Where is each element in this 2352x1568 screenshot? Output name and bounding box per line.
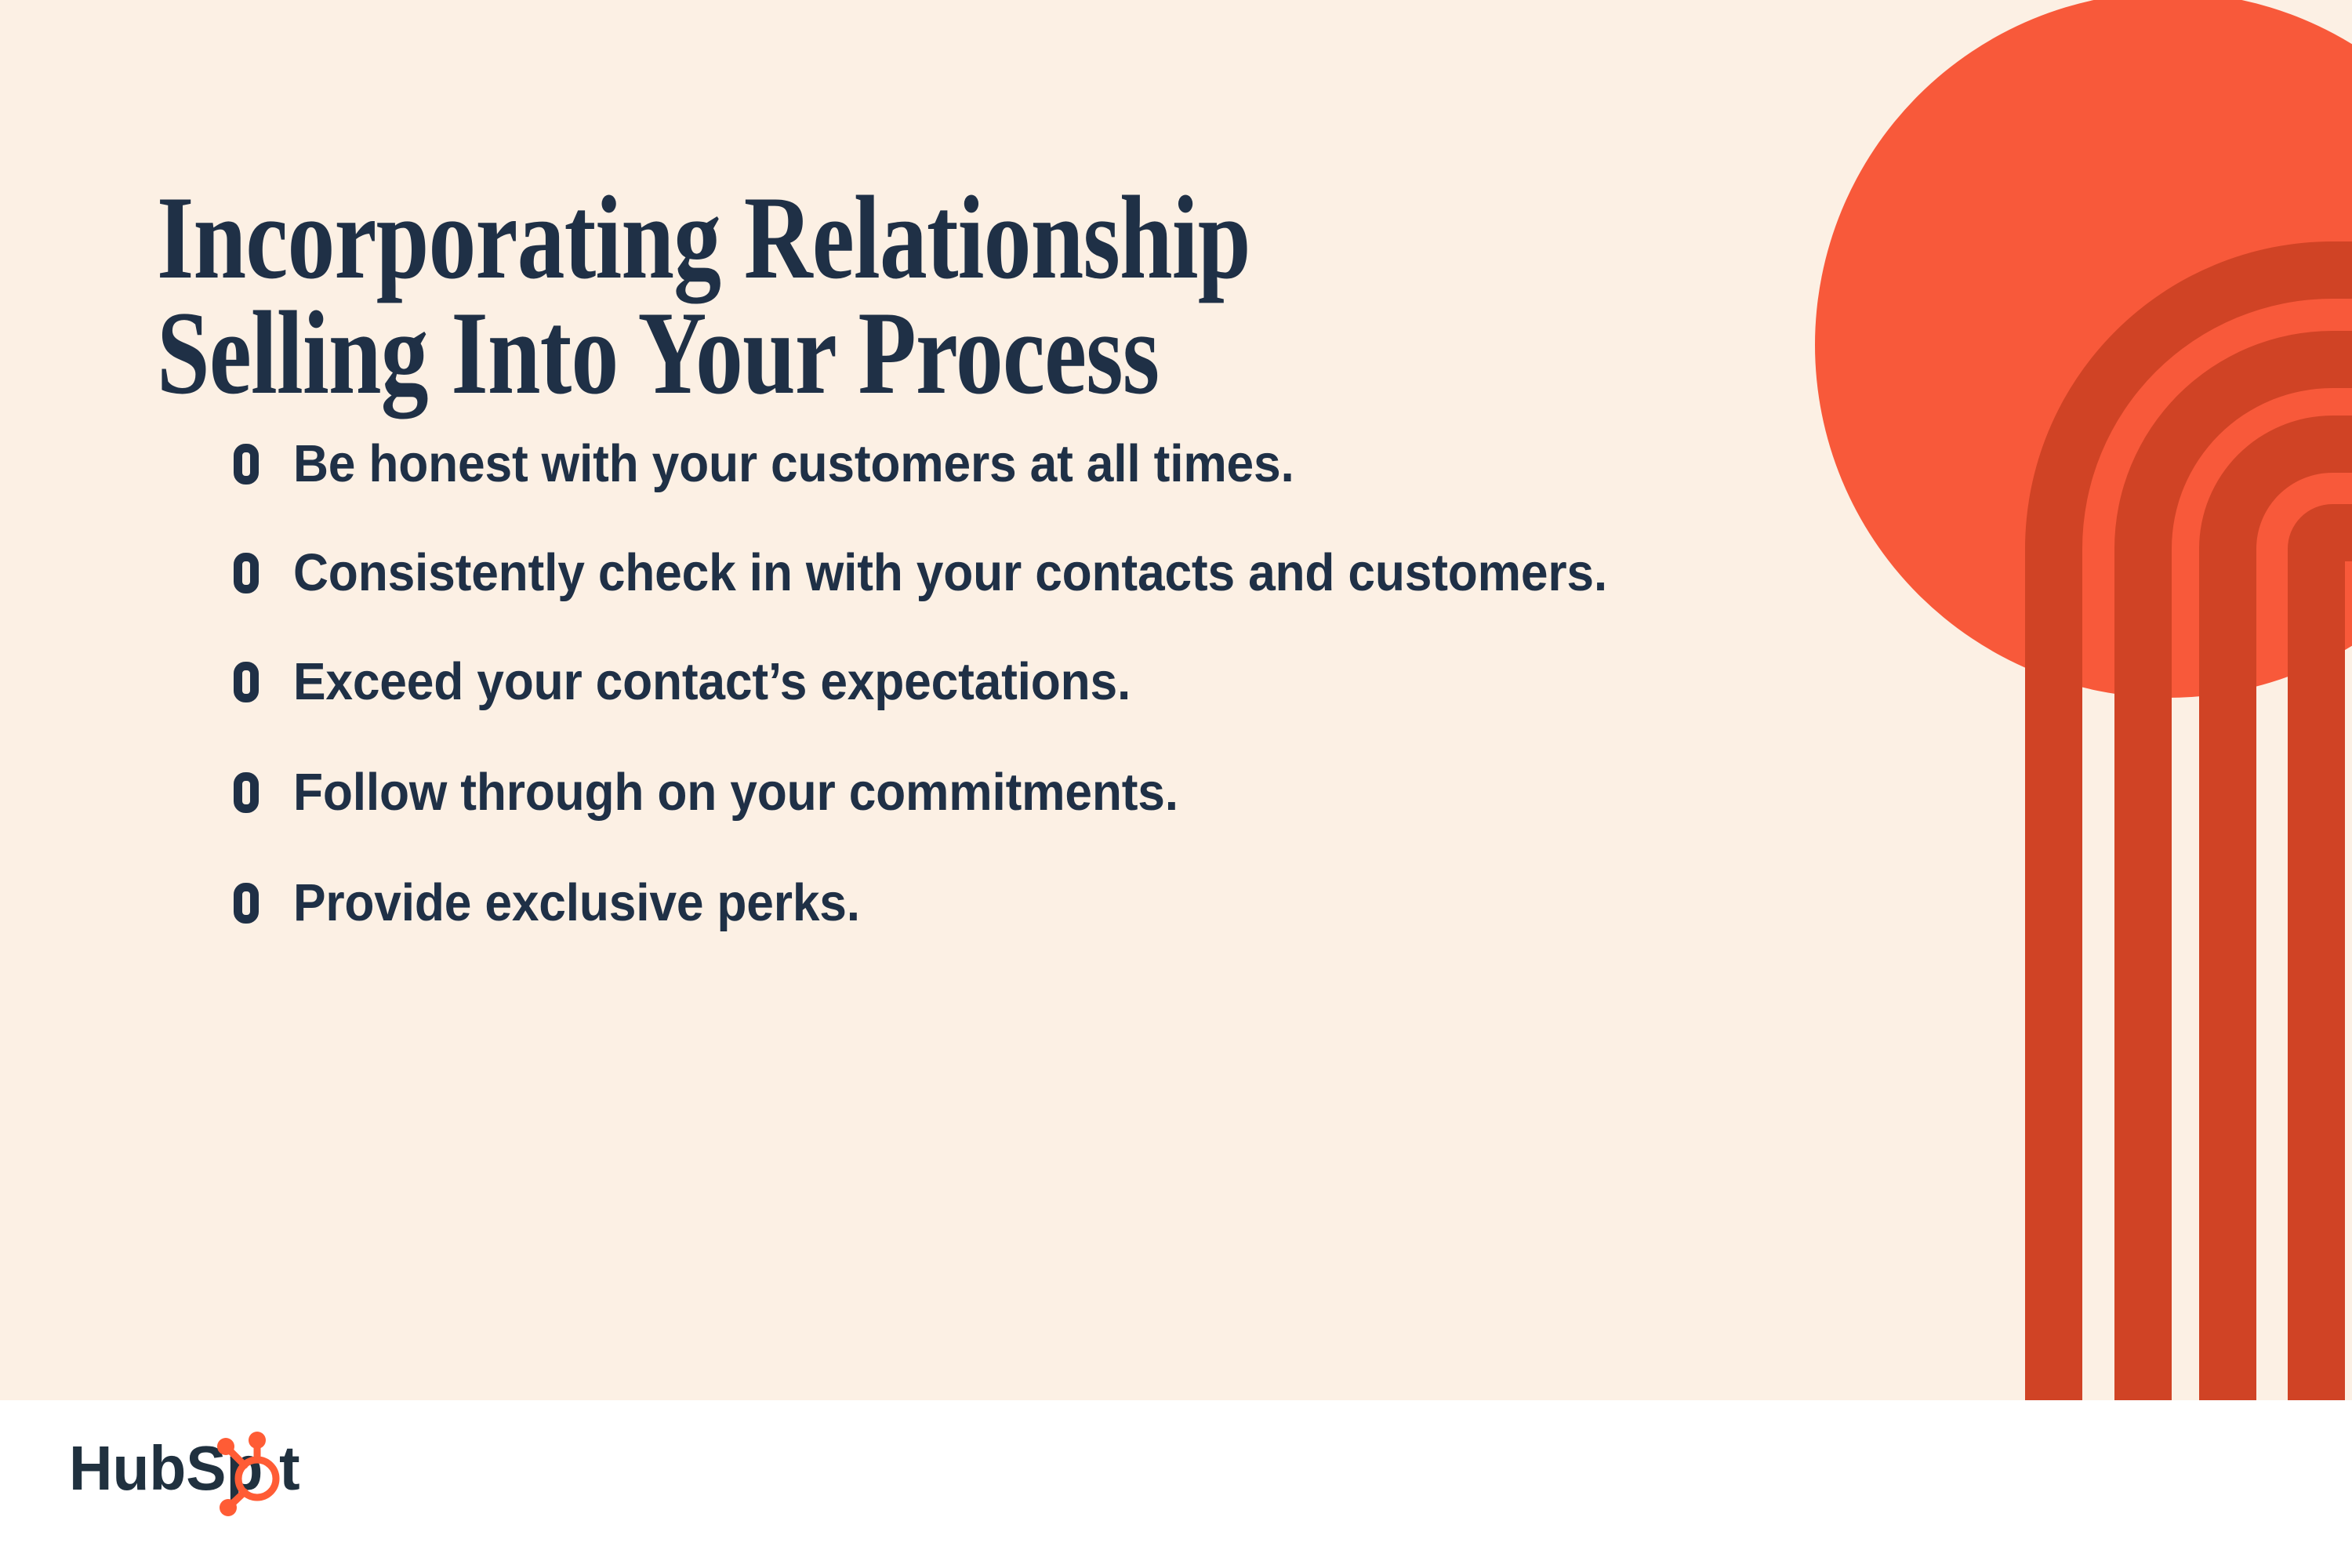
slide-body: Incorporating Relationship Selling Into … — [0, 0, 2352, 1400]
checkbox-icon[interactable] — [234, 553, 259, 593]
checkbox-icon[interactable] — [234, 662, 259, 702]
checklist-item[interactable]: Exceed your contact’s expectations. — [234, 651, 1723, 713]
checklist-item-label: Follow through on your commitments. — [293, 761, 1623, 823]
checkbox-icon[interactable] — [234, 883, 259, 924]
page-title-line-1: Incorporating Relationship — [157, 180, 1417, 296]
orange-circle-and-arcs-graphic — [1646, 0, 2352, 1400]
arc-2 — [2114, 331, 2352, 1400]
slide-canvas: Incorporating Relationship Selling Into … — [0, 0, 2352, 1568]
page-title-line-2: Selling Into Your Process — [157, 296, 1417, 411]
checkbox-icon[interactable] — [234, 772, 259, 813]
checklist-item[interactable]: Consistently check in with your contacts… — [234, 542, 1723, 604]
arc-1 — [2025, 241, 2352, 1400]
hubspot-logo-text-after: t — [279, 1433, 300, 1503]
footer-bar: HubSp t — [0, 1400, 2352, 1568]
checklist-item-label: Provide exclusive perks. — [293, 872, 1623, 934]
checklist-item[interactable]: Be honest with your customers at all tim… — [234, 433, 1723, 495]
checklist-item-label: Be honest with your customers at all tim… — [293, 433, 1623, 495]
checklist-item[interactable]: Follow through on your commitments. — [234, 761, 1723, 823]
page-title: Incorporating Relationship Selling Into … — [157, 180, 1417, 412]
hubspot-logo[interactable]: HubSp t — [69, 1430, 351, 1524]
checklist-item-label: Consistently check in with your contacts… — [293, 542, 1623, 604]
arc-4 — [2288, 504, 2352, 1400]
orange-circle — [1815, 0, 2352, 698]
hubspot-logo-text-before: HubSp — [69, 1433, 263, 1504]
checkbox-icon[interactable] — [234, 444, 259, 485]
checklist-item[interactable]: Provide exclusive perks. — [234, 872, 1723, 934]
arc-3 — [2199, 416, 2352, 1400]
checklist: Be honest with your customers at all tim… — [234, 433, 1723, 934]
checklist-item-label: Exceed your contact’s expectations. — [293, 651, 1623, 713]
